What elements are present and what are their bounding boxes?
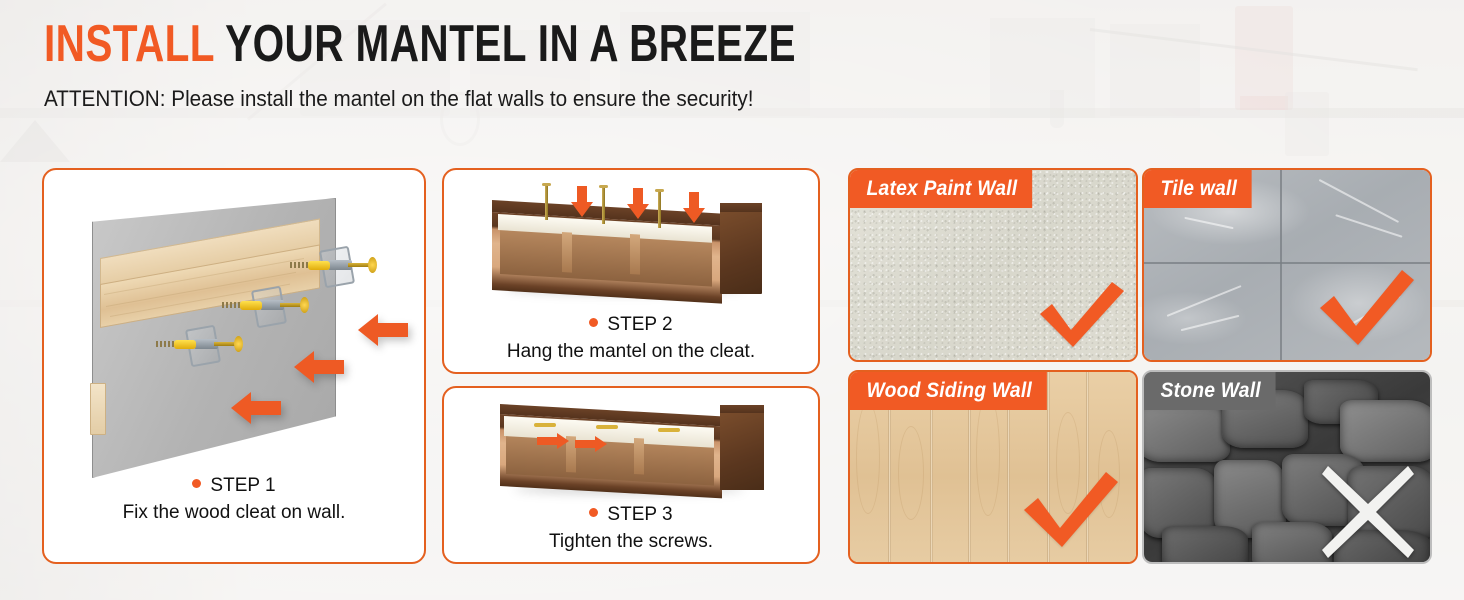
wall-label-tile: Tile wall	[1144, 170, 1252, 208]
step-3-illustration	[444, 388, 822, 498]
check-icon	[1036, 278, 1126, 350]
bullet-dot-icon	[192, 479, 201, 488]
step-2-illustration	[444, 170, 822, 300]
down-arrow-icon	[570, 184, 594, 218]
check-icon	[1020, 468, 1120, 550]
wall-type-tile-wall[interactable]: Tile wall	[1142, 168, 1432, 362]
step-card-2: STEP 2 Hang the mantel on the cleat.	[442, 168, 820, 374]
bullet-dot-icon	[589, 508, 598, 517]
attention-subtitle: ATTENTION: Please install the mantel on …	[44, 86, 931, 112]
step-card-1: STEP 1 Fix the wood cleat on wall.	[42, 168, 426, 564]
infographic-root: INSTALL YOUR MANTEL IN A BREEZE ATTENTIO…	[0, 0, 1464, 600]
screw-head-icon	[655, 189, 664, 192]
step-1-description: Fix the wood cleat on wall.	[44, 501, 424, 526]
step-3-caption: STEP 3 Tighten the screws.	[444, 503, 818, 554]
step-1-caption: STEP 1 Fix the wood cleat on wall.	[44, 474, 424, 525]
screw-head-icon	[542, 183, 551, 186]
wall-type-latex-paint-wall[interactable]: Latex Paint Wall	[848, 168, 1138, 362]
check-icon	[1316, 266, 1416, 348]
down-arrow-icon	[626, 186, 650, 220]
wall-type-stone-wall[interactable]: Stone Wall	[1142, 370, 1432, 564]
wall-type-wood-siding-wall[interactable]: Wood Siding Wall	[848, 370, 1138, 564]
screw-icon	[596, 425, 618, 429]
screw-icon	[545, 184, 548, 220]
screw-head-icon	[599, 185, 608, 188]
step-3-description: Tighten the screws.	[444, 530, 818, 555]
bullet-dot-icon	[589, 318, 598, 327]
wall-label-latex-paint: Latex Paint Wall	[850, 170, 1032, 208]
step-3-title-row: STEP 3	[444, 503, 818, 527]
right-arrow-icon	[536, 432, 570, 450]
wall-label-wood-siding: Wood Siding Wall	[850, 372, 1047, 410]
screw-icon	[602, 186, 605, 224]
step-card-3: STEP 3 Tighten the screws.	[442, 386, 820, 564]
toggle-bolt-anchor	[234, 288, 308, 322]
step-2-caption: STEP 2 Hang the mantel on the cleat.	[444, 313, 818, 364]
step-2-title: STEP 2	[607, 314, 672, 335]
toggle-bolt-anchor	[168, 327, 242, 361]
title-highlight: INSTALL	[44, 15, 214, 73]
left-arrow-icon	[229, 388, 283, 428]
page-title: INSTALL YOUR MANTEL IN A BREEZE	[44, 18, 796, 70]
step-1-illustration	[44, 170, 428, 500]
screw-icon	[658, 190, 661, 228]
step-3-title: STEP 3	[607, 504, 672, 525]
wall-label-stone: Stone Wall	[1144, 372, 1276, 410]
right-arrow-icon	[574, 435, 608, 453]
screw-icon	[534, 423, 556, 427]
header: INSTALL YOUR MANTEL IN A BREEZE ATTENTIO…	[44, 18, 1008, 112]
step-1-title: STEP 1	[210, 475, 275, 496]
step-2-description: Hang the mantel on the cleat.	[444, 340, 818, 365]
x-icon	[1322, 466, 1414, 558]
toggle-bolt-anchor	[302, 248, 376, 282]
cleat-end-grain	[90, 383, 106, 435]
down-arrow-icon	[682, 190, 706, 224]
step-1-title-row: STEP 1	[44, 474, 424, 498]
screw-icon	[658, 428, 680, 432]
left-arrow-icon	[292, 347, 346, 387]
step-2-title-row: STEP 2	[444, 313, 818, 337]
title-rest: YOUR MANTEL IN A BREEZE	[225, 15, 796, 73]
left-arrow-icon	[356, 310, 410, 350]
